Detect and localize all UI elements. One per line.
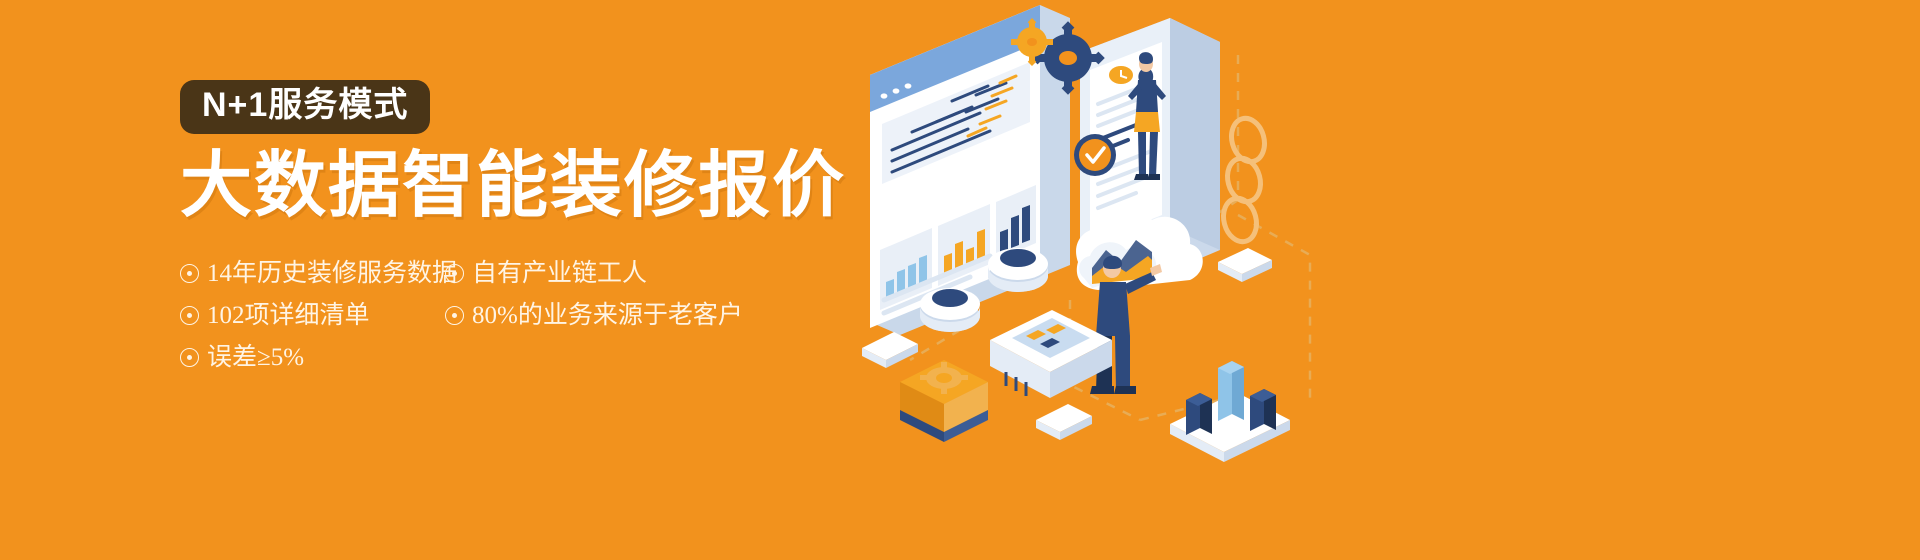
bar-chart-blocks: [1170, 361, 1290, 462]
service-model-badge: N+1服务模式: [180, 80, 430, 134]
list-item: 14年历史装修服务数据: [180, 252, 445, 294]
bullseye-icon: [180, 264, 199, 283]
check-circle-badge: [1074, 134, 1116, 176]
bullseye-icon: [445, 306, 464, 325]
bar-light-blue: [1218, 361, 1244, 421]
list-item: 102项详细清单: [180, 294, 445, 336]
list-item-label: 误差≥5%: [207, 345, 304, 370]
clock-icon: [1109, 66, 1133, 84]
floating-card: [1036, 404, 1092, 440]
floating-card: [1218, 248, 1272, 282]
server-stack: [990, 310, 1112, 398]
feature-bullet-list: 14年历史装修服务数据 自有产业链工人 102项详细清单 80%的业务来源于老客…: [180, 252, 700, 378]
list-item-label: 102项详细清单: [207, 303, 370, 328]
bullseye-icon: [445, 264, 464, 283]
list-item: 80%的业务来源于老客户: [445, 294, 700, 336]
banner-text-block: N+1服务模式 大数据智能装修报价 14年历史装修服务数据 自有产业链工人 10…: [180, 80, 880, 378]
banner-headline: 大数据智能装修报价: [180, 150, 880, 222]
promo-banner: N+1服务模式 大数据智能装修报价 14年历史装修服务数据 自有产业链工人 10…: [0, 0, 1920, 560]
list-item: 自有产业链工人: [445, 252, 700, 294]
bullseye-icon: [180, 348, 199, 367]
bullseye-icon: [180, 306, 199, 325]
list-item: 误差≥5%: [180, 336, 445, 378]
list-item-label: 14年历史装修服务数据: [207, 261, 457, 286]
ring-stack: [1219, 115, 1269, 246]
list-item-label: 80%的业务来源于老客户: [472, 303, 743, 328]
big-data-isometric-illustration: [840, 0, 1440, 560]
list-item-label: 自有产业链工人: [472, 261, 647, 286]
orange-gear-box: [900, 360, 988, 442]
